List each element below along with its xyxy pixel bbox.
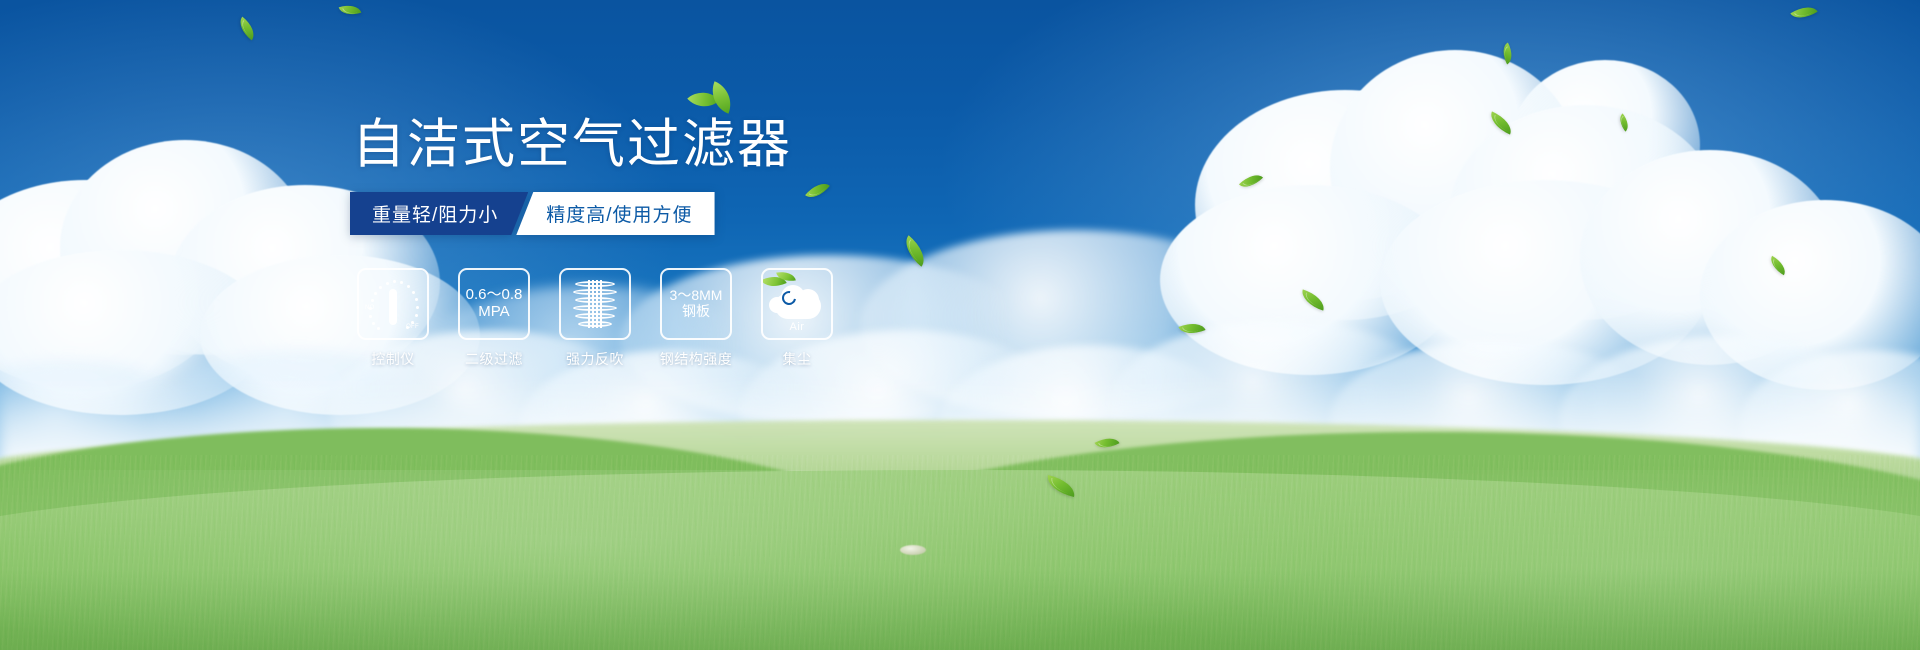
feature-label: 强力反吹 — [566, 349, 624, 369]
gauge-icon: NO OFF — [365, 277, 421, 331]
hero-banner: 自洁式空气过滤器 重量轻/阻力小 精度高/使用方便 — [0, 0, 1920, 650]
feature-icon-box: NO OFF — [357, 268, 429, 340]
feature-icon-row: NO OFF 控制仪 0.6〜0.8 MPA 二级过滤 — [357, 268, 833, 369]
pressure-icon: 0.6〜0.8 MPA — [466, 287, 523, 321]
feature-pressure: 0.6〜0.8 MPA 二级过滤 — [458, 268, 530, 369]
feature-steel-plate: 3〜8MM 钢板 钢结构强度 — [660, 268, 732, 369]
feature-icon-box: 3〜8MM 钢板 — [660, 268, 732, 340]
steel-material: 钢板 — [670, 304, 723, 320]
feature-label: 控制仪 — [371, 349, 415, 369]
feature-label: 二级过滤 — [465, 349, 523, 369]
air-label: Air — [767, 321, 827, 333]
feature-icon-box — [559, 268, 631, 340]
steel-plate-icon: 3〜8MM 钢板 — [670, 288, 723, 319]
feature-label: 集尘 — [783, 349, 812, 369]
badge-weight-resistance: 重量轻/阻力小 — [350, 192, 528, 235]
feature-controller: NO OFF 控制仪 — [357, 268, 429, 369]
air-cloud-icon: Air — [767, 277, 827, 331]
gauge-label-no: NO — [365, 305, 375, 311]
badge-precision-ease: 精度高/使用方便 — [516, 192, 714, 235]
feature-label: 钢结构强度 — [660, 349, 733, 369]
feature-dust-collection: Air 集尘 — [761, 268, 833, 369]
gauge-needle — [389, 289, 397, 325]
steel-thickness: 3〜8MM — [670, 288, 723, 304]
pressure-range: 0.6〜0.8 — [466, 287, 523, 304]
feature-icon-box: 0.6〜0.8 MPA — [458, 268, 530, 340]
feature-icon-box: Air — [761, 268, 833, 340]
pressure-unit: MPA — [466, 304, 523, 321]
gauge-label-off: OFF — [406, 324, 419, 330]
banner-content: 自洁式空气过滤器 重量轻/阻力小 精度高/使用方便 — [0, 0, 1920, 650]
feature-blowback: 强力反吹 — [559, 268, 631, 369]
spring-coil-icon — [569, 277, 621, 331]
tagline-badges: 重量轻/阻力小 精度高/使用方便 — [350, 192, 715, 235]
title-leaf-decoration — [682, 84, 742, 126]
title-row: 自洁式空气过滤器 — [352, 118, 792, 171]
